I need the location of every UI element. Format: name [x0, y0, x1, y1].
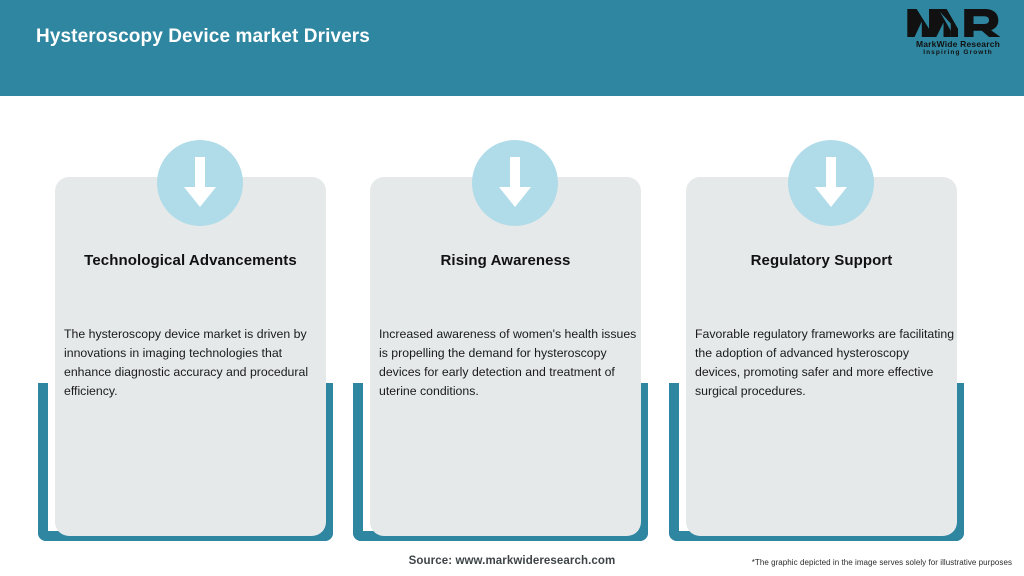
card-title: Rising Awareness: [370, 252, 641, 269]
arrow-down-icon-badge: [788, 140, 874, 226]
drivers-card-group: Technological Advancements The hysterosc…: [0, 96, 1024, 546]
page-title: Hysteroscopy Device market Drivers: [36, 26, 370, 48]
arrow-down-icon: [813, 157, 849, 209]
card-panel: Technological Advancements The hysterosc…: [55, 177, 326, 536]
brand-logo: MarkWide Research Inspiring Growth: [906, 8, 1010, 60]
logo-tagline: Inspiring Growth: [906, 49, 1010, 57]
arrow-down-icon: [182, 157, 218, 209]
arrow-down-icon-badge: [472, 140, 558, 226]
slide-canvas: Hysteroscopy Device market Drivers MarkW…: [0, 0, 1024, 576]
header-bar: Hysteroscopy Device market Drivers MarkW…: [0, 0, 1024, 96]
card-title: Regulatory Support: [686, 252, 957, 269]
logo-company-name: MarkWide Research: [906, 39, 1010, 49]
arrow-down-icon: [497, 157, 533, 209]
card-panel: Regulatory Support Favorable regulatory …: [686, 177, 957, 536]
driver-card-2[interactable]: Rising Awareness Increased awareness of …: [348, 96, 663, 546]
mwr-logo-icon: [906, 8, 1010, 38]
card-title: Technological Advancements: [55, 252, 326, 269]
card-body-text: Increased awareness of women's health is…: [379, 325, 639, 401]
card-panel: Rising Awareness Increased awareness of …: [370, 177, 641, 536]
driver-card-1[interactable]: Technological Advancements The hysterosc…: [33, 96, 348, 546]
card-body-text: The hysteroscopy device market is driven…: [64, 325, 324, 401]
disclaimer-note: *The graphic depicted in the image serve…: [752, 558, 1012, 567]
card-body-text: Favorable regulatory frameworks are faci…: [695, 325, 955, 401]
arrow-down-icon-badge: [157, 140, 243, 226]
driver-card-3[interactable]: Regulatory Support Favorable regulatory …: [664, 96, 979, 546]
